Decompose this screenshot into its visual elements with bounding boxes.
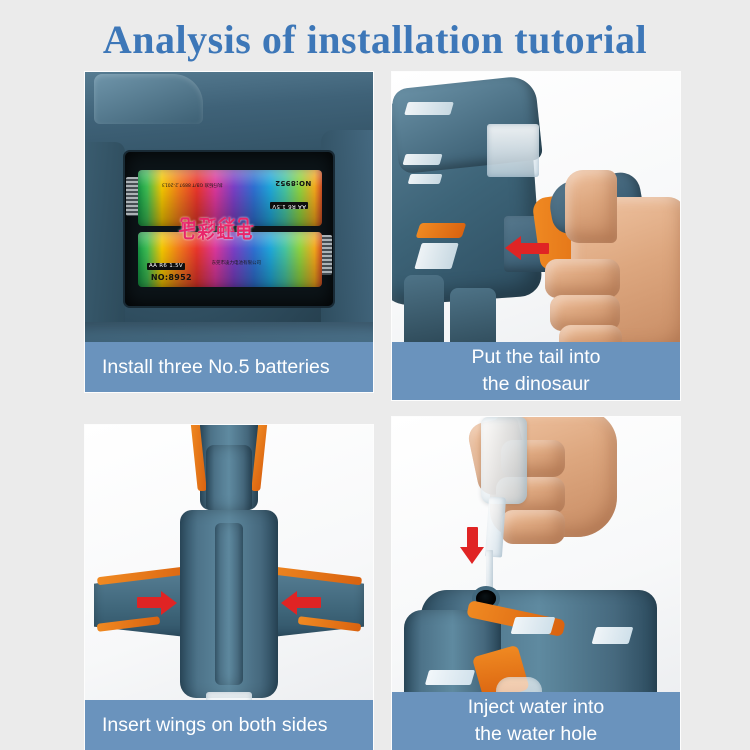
battery-number-bottom: NO:8952 [149, 274, 194, 281]
page-title: Analysis of installation tutorial [0, 16, 750, 63]
caption-line: Inject water into [392, 694, 680, 721]
toy-white-fin-1 [511, 617, 556, 634]
toy-fuselage-ridge [215, 523, 244, 686]
battery-cell-bottom: 七彩虹电 东莞市凌力电池有限公司 AA R6 1.5V NO:8952 [138, 232, 323, 287]
tutorial-step-grid: 七彩虹电 执行标准 GB/T 8897.2-2013 AA R6 1.5V NO… [85, 72, 680, 750]
battery-recess: 七彩虹电 执行标准 GB/T 8897.2-2013 AA R6 1.5V NO… [125, 152, 332, 306]
step-card-wings[interactable]: Insert wings on both sides [85, 425, 373, 750]
dinosaur-chest-stripe [414, 243, 459, 269]
dinosaur-stripe-3 [408, 174, 443, 184]
arrow-left-icon [295, 597, 321, 608]
battery-spec-top: AA R6 1.5V [270, 202, 308, 209]
arrow-right-icon [137, 597, 163, 608]
step-card-batteries[interactable]: 七彩虹电 执行标准 GB/T 8897.2-2013 AA R6 1.5V NO… [85, 72, 373, 392]
caption-tail: Put the tail into the dinosaur [392, 342, 680, 400]
battery-maker-cn: 东莞市凌力电池有限公司 [212, 261, 262, 267]
toy-white-fin-2 [591, 627, 633, 644]
toy-head-plate [206, 445, 252, 510]
caption-wings: Insert wings on both sides [85, 700, 373, 750]
battery-brand-cn-bottom: 七彩虹电 [178, 218, 254, 243]
caption-line: the water hole [392, 721, 680, 748]
hand-finger-ring [501, 510, 564, 543]
step-card-water[interactable]: Inject water into the water hole [392, 417, 680, 750]
arrow-down-icon [467, 527, 478, 549]
dropper-bottle [481, 417, 527, 504]
dinosaur-jaw [487, 124, 539, 176]
caption-line: Put the tail into [392, 344, 680, 371]
caption-line: Install three No.5 batteries [102, 354, 373, 381]
step-card-tail[interactable]: Put the tail into the dinosaur [392, 72, 680, 400]
caption-batteries: Install three No.5 batteries [85, 342, 373, 392]
toy-white-teeth [424, 670, 474, 685]
battery-number-top: NO:8952 [273, 179, 313, 186]
hand-thumb [565, 170, 617, 242]
arrow-left-icon [519, 243, 549, 254]
caption-line: Insert wings on both sides [102, 712, 373, 739]
battery-standard-cn-top: 执行标准 GB/T 8897.2-2013 [162, 181, 223, 187]
caption-water: Inject water into the water hole [392, 692, 680, 750]
dropper-tip [485, 496, 506, 557]
dinosaur-stripe-2 [402, 154, 443, 165]
dinosaur-stripe-1 [405, 102, 455, 115]
hand-finger-index [545, 259, 620, 298]
battery-spec-bottom: AA R6 1.5V [147, 263, 185, 270]
caption-line: the dinosaur [392, 371, 680, 398]
dinosaur-chest-accent [416, 223, 467, 238]
